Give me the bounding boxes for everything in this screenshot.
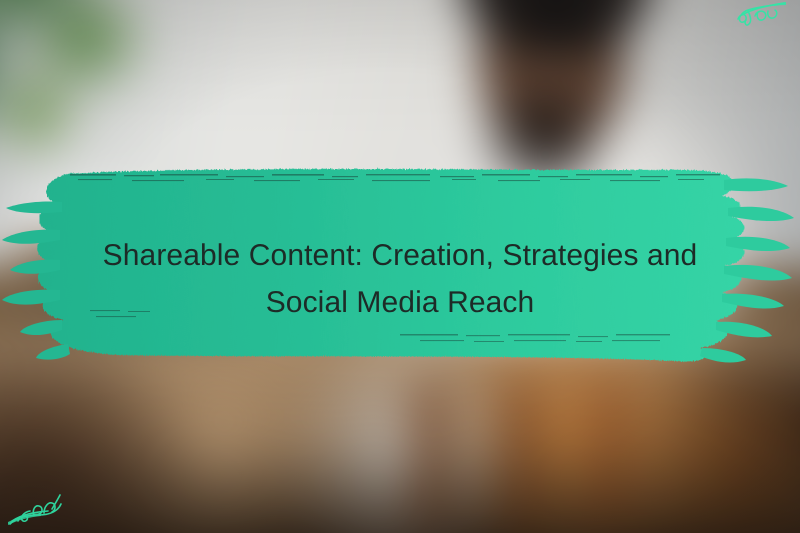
featured-image-canvas: Shareable Content: Creation, Strategies …: [0, 0, 800, 533]
decorative-swirl-flourish-icon-bottom-left: [8, 491, 66, 527]
page-title: Shareable Content: Creation, Strategies …: [62, 232, 738, 326]
swirl-icon: [734, 2, 786, 34]
swirl-icon: [8, 491, 66, 527]
decorative-swirl-flourish-icon-top-right: [734, 2, 786, 34]
